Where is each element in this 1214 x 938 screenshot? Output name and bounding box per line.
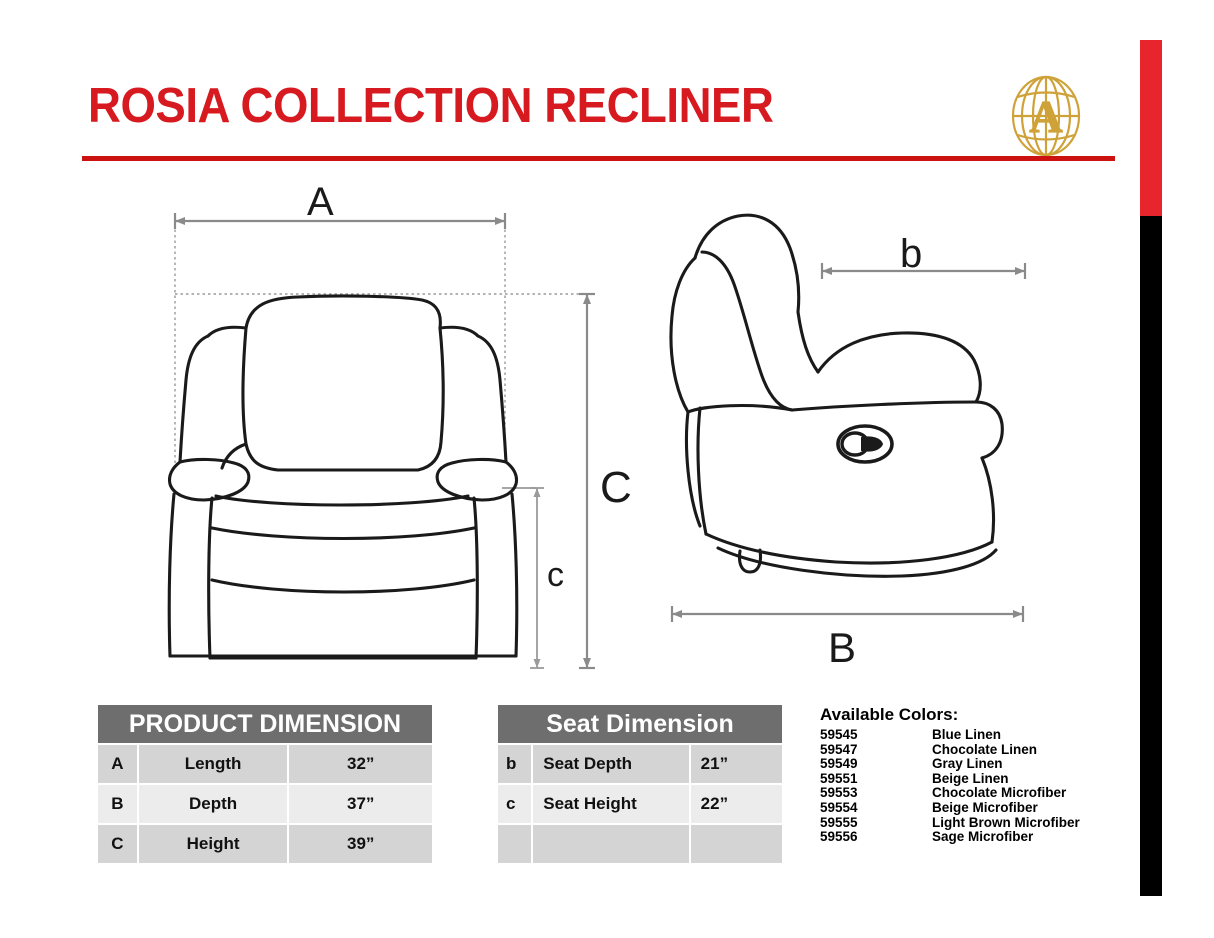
list-item: 59551 Beige Linen xyxy=(820,772,1080,787)
row-key: B xyxy=(98,785,137,823)
list-item: 59553 Chocolate Microfiber xyxy=(820,786,1080,801)
dim-label-B: B xyxy=(828,627,856,669)
color-name: Beige Linen xyxy=(932,772,1080,787)
dim-label-C: C xyxy=(600,466,632,510)
row-key xyxy=(498,825,531,863)
color-code: 59551 xyxy=(820,772,932,787)
color-name: Light Brown Microfiber xyxy=(932,816,1080,831)
edge-bar-black xyxy=(1140,216,1162,896)
color-code: 59554 xyxy=(820,801,932,816)
table-row: c Seat Height 22” xyxy=(498,785,782,823)
row-value: 22” xyxy=(691,785,782,823)
seat-dimension-header: Seat Dimension xyxy=(498,705,782,743)
list-item: 59556 Sage Microfiber xyxy=(820,830,1080,845)
table-row xyxy=(498,825,782,863)
list-item: 59555 Light Brown Microfiber xyxy=(820,816,1080,831)
available-colors-list: 59545 Blue Linen 59547 Chocolate Linen 5… xyxy=(820,728,1080,845)
page-title: ROSIA COLLECTION RECLINER xyxy=(88,78,773,134)
globe-logo: A xyxy=(1004,74,1088,158)
row-key: C xyxy=(98,825,137,863)
available-colors-title: Available Colors: xyxy=(820,705,1080,725)
row-name: Seat Height xyxy=(533,785,688,823)
row-value: 32” xyxy=(289,745,432,783)
row-name: Height xyxy=(139,825,288,863)
svg-text:A: A xyxy=(1029,91,1062,142)
list-item: 59554 Beige Microfiber xyxy=(820,801,1080,816)
color-name: Blue Linen xyxy=(932,728,1080,743)
list-item: 59549 Gray Linen xyxy=(820,757,1080,772)
row-value xyxy=(691,825,782,863)
available-colors-section: Available Colors: 59545 Blue Linen 59547… xyxy=(820,705,1080,845)
table-row: C Height 39” xyxy=(98,825,432,863)
dim-label-b: b xyxy=(900,234,922,274)
dim-label-c: c xyxy=(547,558,564,592)
row-value: 37” xyxy=(289,785,432,823)
table-row: b Seat Depth 21” xyxy=(498,745,782,783)
color-code: 59556 xyxy=(820,830,932,845)
product-dimension-header: PRODUCT DIMENSION xyxy=(98,705,432,743)
table-row: B Depth 37” xyxy=(98,785,432,823)
row-name: Depth xyxy=(139,785,288,823)
recliner-front-view xyxy=(150,176,650,681)
color-name: Chocolate Microfiber xyxy=(932,786,1080,801)
dim-label-A: A xyxy=(307,182,334,222)
recliner-handle-icon xyxy=(838,426,892,462)
row-name: Seat Depth xyxy=(533,745,688,783)
recliner-side-view xyxy=(640,196,1070,671)
color-name: Chocolate Linen xyxy=(932,743,1080,758)
color-name: Beige Microfiber xyxy=(932,801,1080,816)
row-name xyxy=(533,825,688,863)
seat-dimension-table: Seat Dimension b Seat Depth 21” c Seat H… xyxy=(496,703,784,865)
color-code: 59549 xyxy=(820,757,932,772)
color-code: 59547 xyxy=(820,743,932,758)
color-code: 59545 xyxy=(820,728,932,743)
color-name: Sage Microfiber xyxy=(932,830,1080,845)
color-name: Gray Linen xyxy=(932,757,1080,772)
color-code: 59553 xyxy=(820,786,932,801)
row-value: 21” xyxy=(691,745,782,783)
title-divider xyxy=(82,156,1115,161)
color-code: 59555 xyxy=(820,816,932,831)
product-dimension-table: PRODUCT DIMENSION A Length 32” B Depth 3… xyxy=(96,703,434,865)
list-item: 59547 Chocolate Linen xyxy=(820,743,1080,758)
row-value: 39” xyxy=(289,825,432,863)
row-key: c xyxy=(498,785,531,823)
edge-bar-red xyxy=(1140,40,1162,216)
row-name: Length xyxy=(139,745,288,783)
product-spec-sheet: ROSIA COLLECTION RECLINER A xyxy=(0,0,1214,938)
row-key: A xyxy=(98,745,137,783)
table-row: A Length 32” xyxy=(98,745,432,783)
row-key: b xyxy=(498,745,531,783)
list-item: 59545 Blue Linen xyxy=(820,728,1080,743)
